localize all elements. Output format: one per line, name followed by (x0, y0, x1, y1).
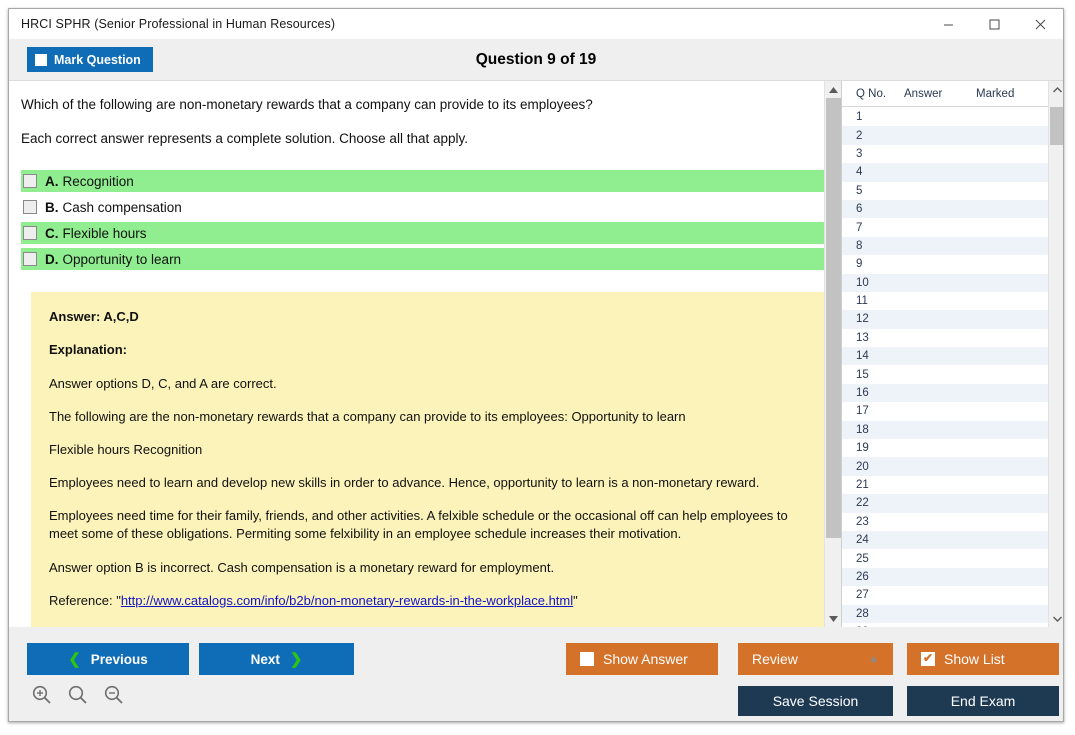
reference-suffix: " (573, 593, 578, 608)
mark-question-checkbox-icon[interactable] (35, 54, 47, 66)
question-instruction: Each correct answer represents a complet… (21, 129, 829, 149)
maximize-icon[interactable] (971, 9, 1017, 39)
chevron-right-icon: ❯ (290, 650, 303, 668)
explanation-paragraph: Answer option B is incorrect. Cash compe… (49, 559, 813, 577)
question-list-row[interactable]: 9 (842, 255, 1048, 273)
question-list-row[interactable]: 11 (842, 292, 1048, 310)
question-list-row[interactable]: 22 (842, 494, 1048, 512)
question-list-number: 28 (842, 608, 904, 620)
column-header-qno: Q No. (842, 88, 904, 100)
answer-options-list: A. Recognition B. Cash compensation C. F… (21, 170, 829, 270)
exam-body: Which of the following are non-monetary … (9, 81, 1064, 627)
question-list-number: 18 (842, 424, 904, 436)
show-list-checkbox-icon[interactable]: ✔ (921, 652, 935, 666)
question-list-rows[interactable]: 1234567891011121314151617181920212223242… (842, 108, 1048, 627)
question-list-row[interactable]: 25 (842, 549, 1048, 567)
question-list-row[interactable]: 15 (842, 365, 1048, 383)
answer-option-a[interactable]: A. Recognition (21, 170, 829, 192)
question-header-bar: Mark Question Question 9 of 19 (9, 39, 1063, 81)
footer-toolbar: ❮ Previous Next ❯ Show Answer Review ▲ ✔… (9, 627, 1064, 722)
review-label: Review (752, 651, 798, 667)
column-header-marked: Marked (976, 88, 1046, 100)
scrollbar-thumb[interactable] (826, 98, 841, 538)
answer-option-d[interactable]: D. Opportunity to learn (21, 248, 829, 270)
option-a-letter: A. (45, 174, 59, 189)
question-list-number: 17 (842, 405, 904, 417)
question-list-number: 4 (842, 166, 904, 178)
question-list-number: 23 (842, 516, 904, 528)
zoom-in-icon[interactable] (31, 684, 53, 706)
show-list-label: Show List (944, 651, 1005, 667)
question-list-row[interactable]: 21 (842, 476, 1048, 494)
question-list-row[interactable]: 3 (842, 145, 1048, 163)
option-d-text: Opportunity to learn (63, 252, 182, 267)
question-list-number: 24 (842, 534, 904, 546)
option-d-letter: D. (45, 252, 59, 267)
option-b-text: Cash compensation (63, 200, 182, 215)
question-list-row[interactable]: 13 (842, 329, 1048, 347)
mark-question-label: Mark Question (54, 53, 141, 67)
chevron-up-icon: ▲ (868, 653, 879, 665)
option-c-letter: C. (45, 226, 59, 241)
question-list-row[interactable]: 16 (842, 384, 1048, 402)
minimize-icon[interactable] (925, 9, 971, 39)
question-list-pane: Q No. Answer Marked 12345678910111213141… (842, 81, 1064, 627)
question-list-number: 22 (842, 497, 904, 509)
review-dropdown[interactable]: Review ▲ (738, 643, 893, 675)
question-list-number: 6 (842, 203, 904, 215)
scroll-up-icon[interactable] (825, 81, 842, 98)
show-answer-button[interactable]: Show Answer (566, 643, 718, 675)
question-list-number: 8 (842, 240, 904, 252)
question-list-number: 9 (842, 258, 904, 270)
question-list-row[interactable]: 18 (842, 421, 1048, 439)
option-a-checkbox-icon[interactable] (23, 174, 37, 188)
explanation-paragraph: The following are the non-monetary rewar… (49, 408, 813, 426)
previous-label: Previous (91, 652, 148, 667)
question-list-row[interactable]: 20 (842, 457, 1048, 475)
explanation-heading: Explanation: (49, 341, 813, 359)
question-list-row[interactable]: 12 (842, 310, 1048, 328)
zoom-out-icon[interactable] (103, 684, 125, 706)
question-list-number: 26 (842, 571, 904, 583)
question-list-number: 12 (842, 313, 904, 325)
question-pane: Which of the following are non-monetary … (9, 81, 842, 627)
question-list-number: 25 (842, 553, 904, 565)
question-list-row[interactable]: 6 (842, 200, 1048, 218)
window-title: HRCI SPHR (Senior Professional in Human … (9, 17, 335, 31)
reference-prefix: Reference: " (49, 593, 121, 608)
scroll-down-icon[interactable] (825, 610, 842, 627)
previous-button[interactable]: ❮ Previous (27, 643, 189, 675)
question-list-number: 14 (842, 350, 904, 362)
mark-question-button[interactable]: Mark Question (27, 47, 153, 72)
question-prompt: Which of the following are non-monetary … (21, 95, 829, 115)
answer-option-b[interactable]: B. Cash compensation (21, 196, 829, 218)
question-list-row[interactable]: 14 (842, 347, 1048, 365)
column-header-answer: Answer (904, 88, 976, 100)
question-list-number: 1 (842, 111, 904, 123)
question-list-number: 19 (842, 442, 904, 454)
question-list-number: 13 (842, 332, 904, 344)
question-list-number: 21 (842, 479, 904, 491)
exam-window: HRCI SPHR (Senior Professional in Human … (8, 8, 1064, 722)
question-list-row[interactable]: 2 (842, 126, 1048, 144)
question-pane-scrollbar[interactable] (824, 81, 841, 627)
option-b-checkbox-icon[interactable] (23, 200, 37, 214)
show-answer-label: Show Answer (603, 651, 688, 667)
question-content: Which of the following are non-monetary … (9, 81, 841, 627)
explanation-panel: Answer: A,C,D Explanation: Answer option… (31, 292, 827, 627)
question-list-number: 11 (842, 295, 904, 307)
explanation-paragraph: Flexible hours Recognition (49, 441, 813, 459)
explanation-paragraph: Answer options D, C, and A are correct. (49, 375, 813, 393)
end-exam-button[interactable]: End Exam (907, 686, 1059, 716)
explanation-answer-label: Answer: A,C,D (49, 308, 813, 326)
next-button[interactable]: Next ❯ (199, 643, 354, 675)
chevron-left-icon: ❮ (68, 650, 81, 668)
close-icon[interactable] (1017, 9, 1063, 39)
question-list-row[interactable]: 26 (842, 568, 1048, 586)
question-list-row[interactable]: 8 (842, 237, 1048, 255)
question-list-row[interactable]: 23 (842, 513, 1048, 531)
window-titlebar: HRCI SPHR (Senior Professional in Human … (9, 9, 1063, 39)
question-list-number: 20 (842, 461, 904, 473)
question-list-row[interactable]: 5 (842, 182, 1048, 200)
explanation-paragraph: Employees need to learn and develop new … (49, 474, 813, 492)
option-b-letter: B. (45, 200, 59, 215)
explanation-reference: Reference: "http://www.catalogs.com/info… (49, 592, 813, 610)
reference-link[interactable]: http://www.catalogs.com/info/b2b/non-mon… (121, 593, 573, 608)
list-scrollbar-thumb[interactable] (1050, 107, 1064, 145)
save-session-label: Save Session (773, 693, 859, 709)
zoom-reset-icon[interactable] (67, 684, 89, 706)
window-controls (925, 9, 1063, 39)
zoom-toolbar (31, 684, 125, 706)
list-scroll-down-icon[interactable] (1049, 610, 1064, 627)
question-list-number: 7 (842, 222, 904, 234)
option-c-checkbox-icon[interactable] (23, 226, 37, 240)
show-answer-checkbox-icon[interactable] (580, 652, 594, 666)
question-list-row[interactable]: 4 (842, 163, 1048, 181)
question-list-row[interactable]: 19 (842, 439, 1048, 457)
end-exam-label: End Exam (951, 693, 1016, 709)
list-scroll-up-icon[interactable] (1049, 81, 1064, 98)
question-list-number: 5 (842, 185, 904, 197)
option-a-text: Recognition (63, 174, 134, 189)
question-list-number: 3 (842, 148, 904, 160)
question-list-number: 27 (842, 589, 904, 601)
option-c-text: Flexible hours (63, 226, 147, 241)
question-list-number: 10 (842, 277, 904, 289)
option-d-checkbox-icon[interactable] (23, 252, 37, 266)
question-list-row[interactable]: 1 (842, 108, 1048, 126)
show-list-button[interactable]: ✔ Show List (907, 643, 1059, 675)
question-list-row[interactable]: 24 (842, 531, 1048, 549)
answer-option-c[interactable]: C. Flexible hours (21, 222, 829, 244)
question-list-scrollbar[interactable] (1048, 81, 1064, 627)
question-list-row[interactable]: 27 (842, 586, 1048, 604)
page-title: Question 9 of 19 (9, 51, 1063, 69)
question-list-header: Q No. Answer Marked (842, 81, 1064, 107)
save-session-button[interactable]: Save Session (738, 686, 893, 716)
question-list-number: 2 (842, 130, 904, 142)
question-list-row[interactable]: 28 (842, 605, 1048, 623)
question-list-number: 16 (842, 387, 904, 399)
explanation-paragraph: Employees need time for their family, fr… (49, 507, 813, 543)
question-list-row[interactable]: 10 (842, 274, 1048, 292)
next-label: Next (251, 652, 280, 667)
question-list-row[interactable]: 17 (842, 402, 1048, 420)
question-list-row[interactable]: 7 (842, 218, 1048, 236)
question-list-number: 15 (842, 369, 904, 381)
